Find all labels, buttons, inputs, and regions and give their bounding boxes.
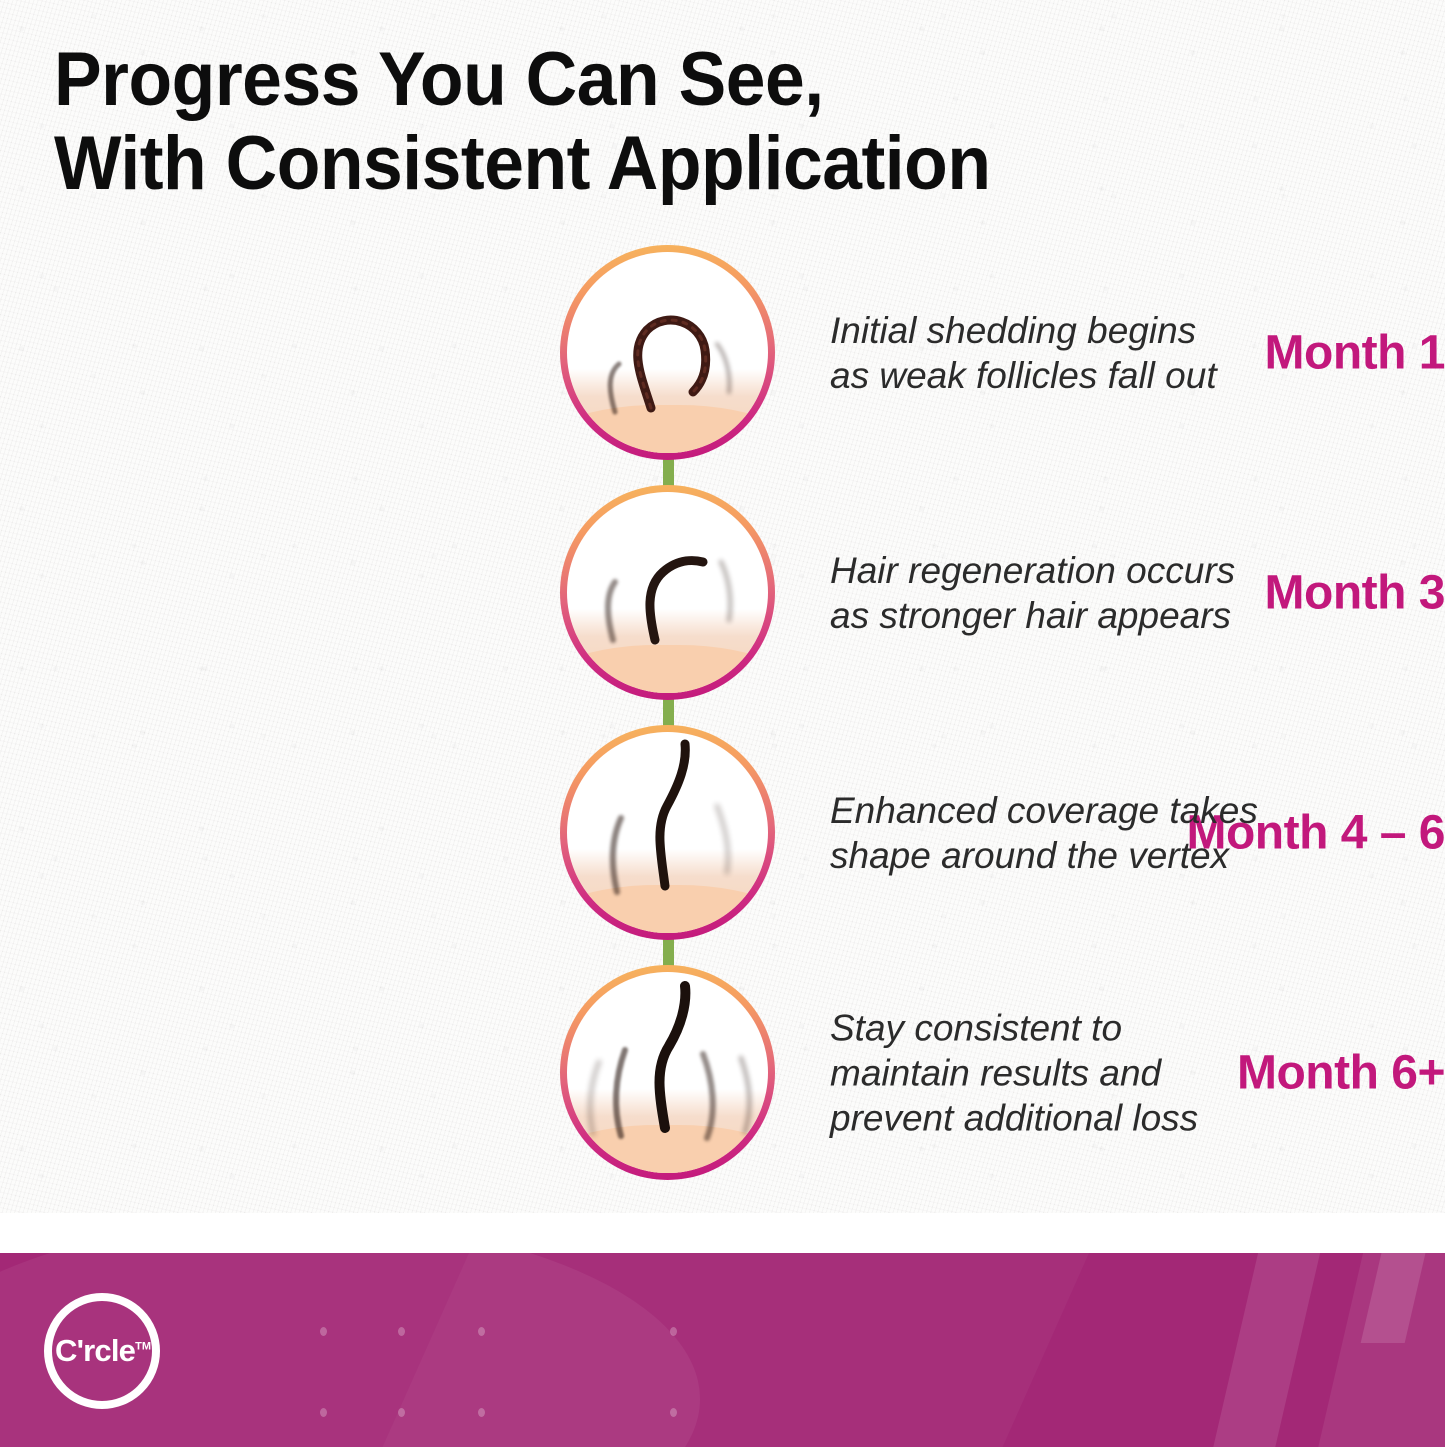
desc-line: shape around the vertex — [830, 833, 1390, 878]
timeline-step-3-image — [560, 725, 775, 940]
timeline-step-1-description: Initial shedding begins as weak follicle… — [830, 308, 1390, 398]
strong-hair-faint — [695, 780, 755, 880]
dense-hair-far-right — [719, 1032, 768, 1142]
regenerating-hair-faint — [699, 538, 759, 628]
timeline-step-4-image — [560, 965, 775, 1180]
timeline-step-4: Month 6+ — [0, 965, 1445, 1180]
timeline-step-4-description: Stay consistent to maintain results and … — [830, 1005, 1390, 1140]
shed-hair-faint — [695, 322, 755, 402]
timeline-step-3: Month 4 – 6 — [0, 725, 1445, 940]
brand-name: C'rcle — [55, 1333, 135, 1368]
shed-hair-small — [585, 340, 655, 420]
timeline-step-2: Month 3 — [0, 485, 1445, 700]
footer-brand-band: C'rcleTM — [0, 1253, 1445, 1447]
page-title: Progress You Can See, With Consistent Ap… — [54, 38, 1267, 206]
timeline-step-1-image — [560, 245, 775, 460]
desc-line: Hair regeneration occurs — [830, 548, 1390, 593]
footer-dot — [670, 1327, 677, 1336]
skin-mound — [567, 645, 768, 693]
desc-line: Enhanced coverage takes — [830, 788, 1390, 833]
page-title-line-1: Progress You Can See, — [54, 38, 1267, 122]
footer-stripe-1 — [1200, 1253, 1331, 1447]
brand-logo-text: C'rcleTM — [55, 1333, 151, 1369]
timeline-step-1: Month 1 — [0, 245, 1445, 460]
regenerating-hair-side — [583, 558, 653, 648]
footer-dot — [320, 1408, 327, 1417]
infographic-panel: Progress You Can See, With Consistent Ap… — [0, 0, 1445, 1213]
desc-line: prevent additional loss — [830, 1095, 1390, 1140]
footer-dot — [398, 1408, 405, 1417]
timeline-step-2-image — [560, 485, 775, 700]
desc-line: as weak follicles fall out — [830, 353, 1390, 398]
footer-dot — [478, 1408, 485, 1417]
footer-dot — [320, 1327, 327, 1336]
strong-hair-side — [587, 790, 657, 900]
desc-line: Initial shedding begins — [830, 308, 1390, 353]
footer-dot — [670, 1408, 677, 1417]
brand-logo[interactable]: C'rcleTM — [44, 1293, 160, 1409]
desc-line: Stay consistent to — [830, 1005, 1390, 1050]
page-title-line-2: With Consistent Application — [54, 122, 1267, 206]
desc-line: maintain results and — [830, 1050, 1390, 1095]
timeline: Month 1 — [0, 245, 1445, 1205]
footer-dot — [478, 1327, 485, 1336]
dense-hair-far-left — [567, 1034, 619, 1144]
desc-line: as stronger hair appears — [830, 593, 1390, 638]
footer-dot — [398, 1327, 405, 1336]
footer-wedge-shape — [353, 1253, 1107, 1447]
trademark-mark: TM — [135, 1341, 151, 1353]
timeline-step-2-description: Hair regeneration occurs as stronger hai… — [830, 548, 1390, 638]
timeline-step-3-description: Enhanced coverage takes shape around the… — [830, 788, 1390, 878]
